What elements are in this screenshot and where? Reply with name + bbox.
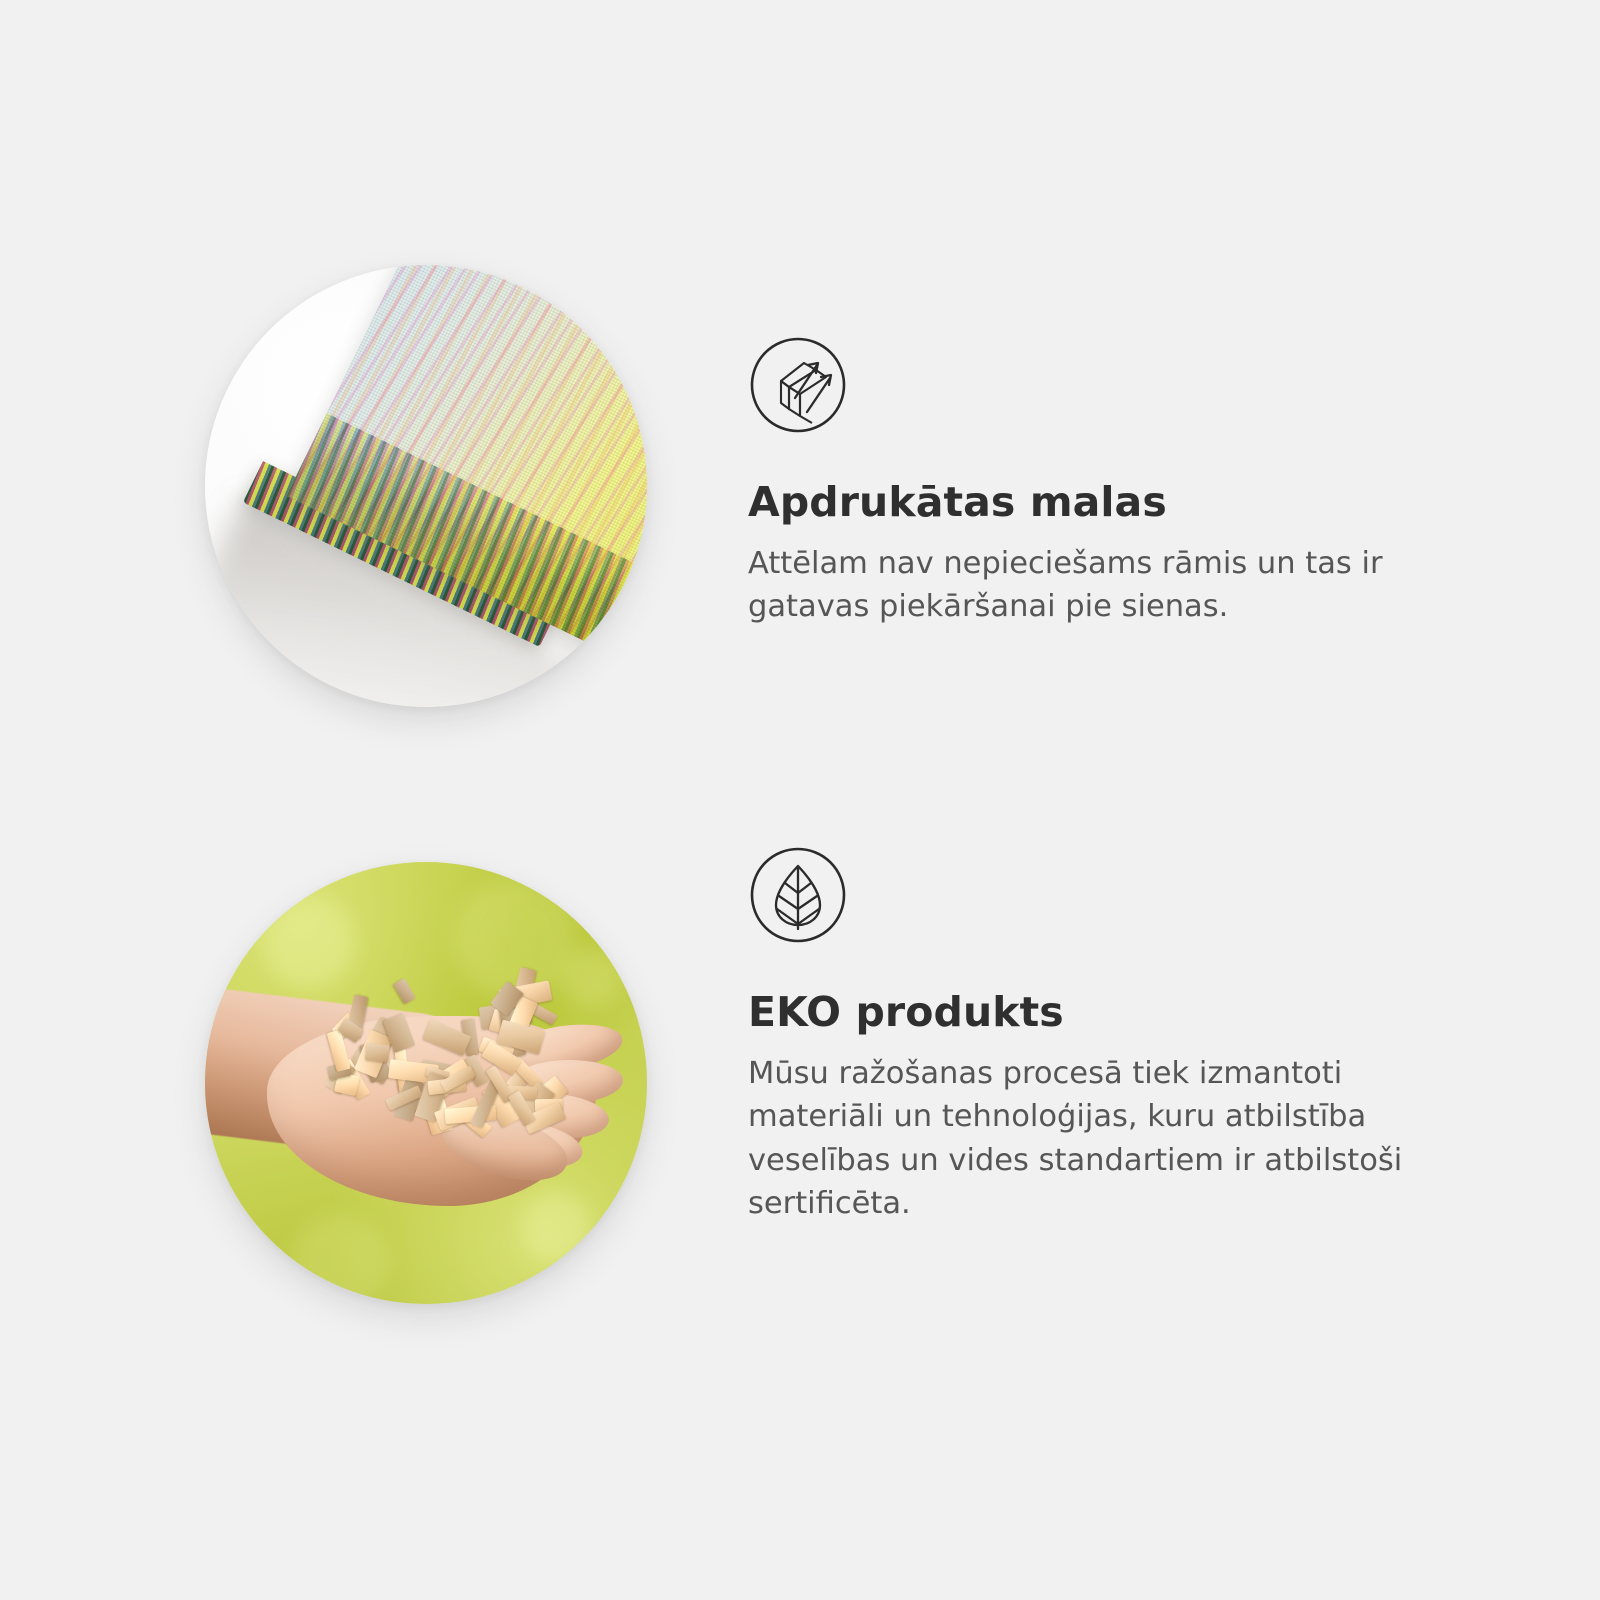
printed-canvas-edge-icon: [748, 335, 848, 435]
wood-chip: [393, 978, 416, 1005]
canvas-photo-background: [205, 265, 647, 707]
eco-product-media: [205, 862, 647, 1304]
feature-title: EKO produkts: [748, 990, 1488, 1035]
canvas-corner-media: [205, 265, 647, 707]
feature-page: Apdrukātas malas Attēlam nav nepieciešam…: [0, 0, 1600, 1600]
bokeh-highlight: [521, 1192, 591, 1262]
hand-with-wood-chips-photo: [205, 862, 647, 1304]
feature-description: Attēlam nav nepieciešams rāmis un tas ir…: [748, 542, 1468, 629]
bokeh-highlight: [263, 896, 355, 988]
feature-printed-edges: Apdrukātas malas Attēlam nav nepieciešam…: [0, 250, 1600, 770]
leaf-icon: [748, 845, 848, 945]
wood-chip: [365, 1043, 390, 1062]
canvas-corner-photo: [205, 265, 647, 707]
feature-description: Mūsu ražošanas procesā tiek izmantoti ma…: [748, 1052, 1468, 1225]
wood-chips-pile: [315, 980, 565, 1130]
feature-title: Apdrukātas malas: [748, 480, 1488, 525]
printed-edges-text-column: Apdrukātas malas Attēlam nav nepieciešam…: [748, 335, 1488, 629]
eco-photo-background: [205, 862, 647, 1304]
bokeh-highlight: [291, 1214, 387, 1304]
feature-eco-product: EKO produkts Mūsu ražošanas procesā tiek…: [0, 845, 1600, 1375]
bokeh-highlight: [561, 948, 621, 1008]
eco-product-text-column: EKO produkts Mūsu ražošanas procesā tiek…: [748, 845, 1488, 1225]
